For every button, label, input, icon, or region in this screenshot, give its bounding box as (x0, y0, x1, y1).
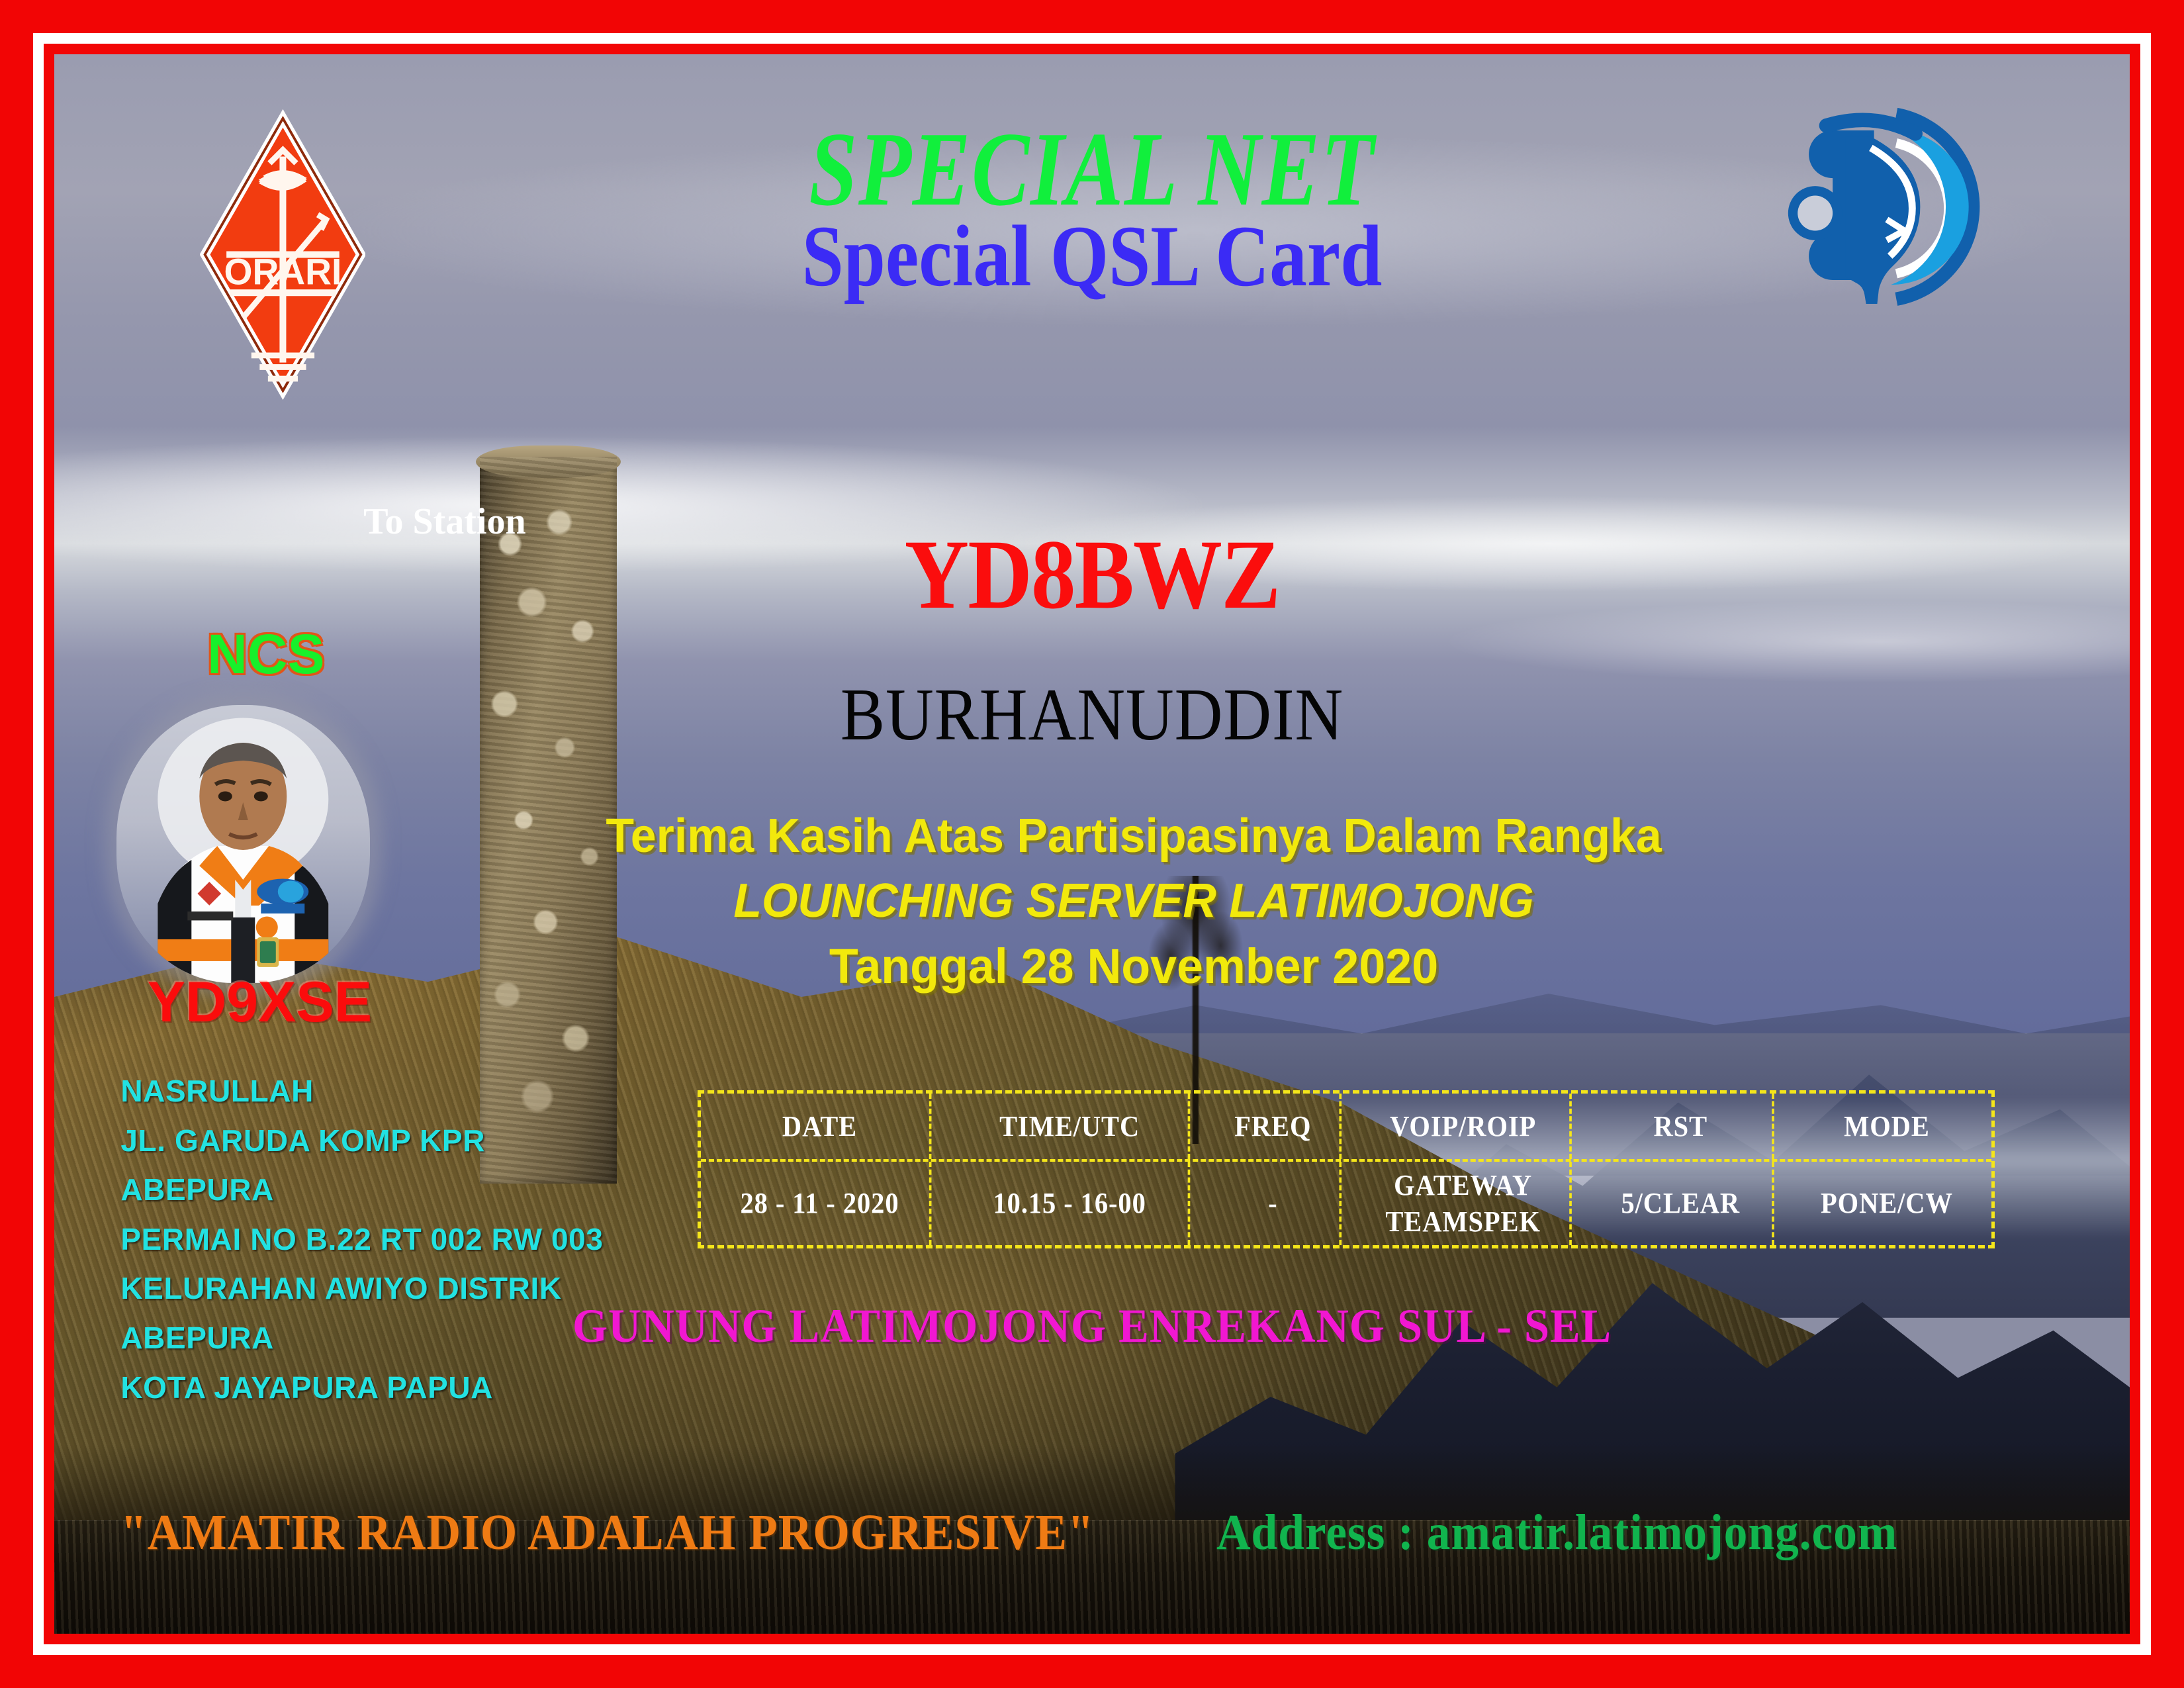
cell-voip-roip-line2: TEAMSPEK (1385, 1205, 1541, 1238)
address-line-3: ABEPURA (120, 1165, 603, 1215)
cell-mode: PONE/CW (1791, 1162, 1983, 1245)
page-subtitle-special-qsl-card: Special QSL Card (200, 212, 1985, 300)
ncs-callsign: YD9XSE (104, 974, 415, 1031)
cell-voip-roip-line1: GATEWAY (1394, 1169, 1532, 1201)
ncs-operator-avatar (116, 705, 370, 983)
cell-rst: 5/CLEAR (1589, 1162, 1774, 1245)
event-date-line: Tanggal 28 November 2020 (127, 942, 2130, 991)
column-header-rst: RST (1589, 1094, 1774, 1159)
location-caption: GUNUNG LATIMOJONG ENREKANG SUL - SEL (106, 1302, 2077, 1350)
mailing-address: NASRULLAH JL. GARUDA KOMP KPR ABEPURA PE… (120, 1066, 603, 1412)
event-name-line: LOUNCHING SERVER LATIMOJONG (127, 877, 2130, 925)
thanks-message-line1: Terima Kasih Atas Partisipasinya Dalam R… (127, 812, 2130, 860)
footer-slogan: "AMATIR RADIO ADALAH PROGRESIVE" (120, 1507, 1095, 1558)
address-line-4: PERMAI NO B.22 RT 002 RW 003 (120, 1215, 603, 1264)
card-border-red-inner: ORARI SPECIAL NET Special Q (44, 44, 2140, 1644)
card-photo-area: ORARI SPECIAL NET Special Q (54, 54, 2130, 1634)
page-title-special-net: SPECIAL NET (241, 116, 1943, 222)
qso-details-table: DATE TIME/UTC FREQ VOIP/ROIP RST MODE 28… (698, 1090, 1995, 1248)
cell-date: 28 - 11 - 2020 (711, 1162, 932, 1245)
address-line-7: KOTA JAYAPURA PAPUA (120, 1363, 603, 1413)
column-header-mode: MODE (1791, 1094, 1983, 1159)
table-header-row: DATE TIME/UTC FREQ VOIP/ROIP RST MODE (701, 1094, 1991, 1162)
ncs-label: NCS (120, 626, 411, 682)
address-line-1: NASRULLAH (120, 1066, 603, 1116)
footer-website: Address : amatir.latimojong.com (1216, 1507, 1897, 1558)
card-border-white: ORARI SPECIAL NET Special Q (33, 33, 2151, 1655)
address-line-2: JL. GARUDA KOMP KPR (120, 1116, 603, 1166)
operator-name: BURHANUDDIN (158, 678, 2026, 752)
qsl-card: ORARI SPECIAL NET Special Q (0, 0, 2184, 1688)
column-header-voip-roip: VOIP/ROIP (1357, 1094, 1572, 1159)
column-header-freq: FREQ (1206, 1094, 1342, 1159)
cell-voip-roip: GATEWAY TEAMSPEK (1357, 1162, 1572, 1245)
column-header-date: DATE (711, 1094, 932, 1159)
cell-time-utc: 10.15 - 16-00 (952, 1162, 1191, 1245)
cell-freq: - (1206, 1162, 1342, 1245)
table-row: 28 - 11 - 2020 10.15 - 16-00 - GATEWAY T… (701, 1162, 1991, 1245)
station-callsign: YD8BWZ (158, 525, 2026, 624)
column-header-time-utc: TIME/UTC (952, 1094, 1191, 1159)
